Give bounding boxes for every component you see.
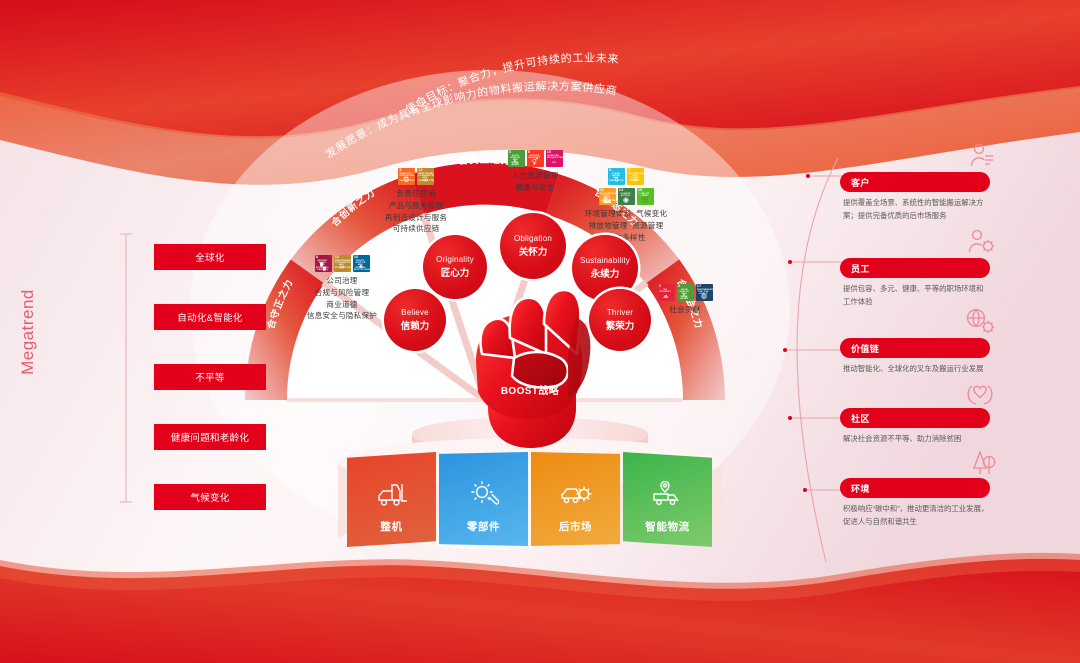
stakeholder-customer[interactable]: 客户 提供覆盖全场景、系统性的智能搬运解决方案；提供完备优质的后市场服务 <box>840 172 990 222</box>
pillar-innovation[interactable]: 9INDUSTRY, INNOVATION AND INFRASTRUCTURE… <box>360 168 472 235</box>
globe-gear-icon <box>964 306 996 341</box>
business-tab-label: 后市场 <box>559 519 592 534</box>
pillar-ecology[interactable]: 6CLEAN WATER AND SANITATION⚱ 7AFFORDABLE… <box>568 168 684 243</box>
stakeholder-desc: 提供包容、多元、健康、平等的职场环境和工作体验 <box>840 283 990 308</box>
sdg-icon-11: 11SUSTAINABLE CITIES AND COMMUNITIES🏙 <box>599 188 616 205</box>
sdg-icon-12: 12RESPONSIBLE CONSUMPTION AND PRODUCTION… <box>334 255 351 272</box>
smart-logistics-truck-icon <box>651 481 685 512</box>
pillar-topics-ecology: 环境管理体系 气候变化 排放物管理 资源管理 生物多样性 <box>568 208 684 243</box>
sdg-icon-3: 3GOOD HEALTH AND WELL-BEING∿ <box>677 284 694 301</box>
stakeholder-desc: 积极响应“碳中和”，推动更清洁的工业发展，促进人与自然和谐共生 <box>840 503 990 528</box>
sdg-icon-10: 10REDUCED INEQUALITIES⇔ <box>546 150 563 167</box>
bubble-en-label: Obligation <box>514 234 552 243</box>
sdg-icon-13: 13CLIMATE ACTION◉ <box>618 188 635 205</box>
stakeholder-community[interactable]: 社区 解决社会资源不平等、助力消除贫困 <box>840 408 990 446</box>
sdg-row-ecology-top: 6CLEAN WATER AND SANITATION⚱ 7AFFORDABLE… <box>568 168 684 185</box>
sdg-row-society: 1NO POVERTY⩕ 3GOOD HEALTH AND WELL-BEING… <box>629 284 741 301</box>
sdg-icon-7: 7AFFORDABLE AND CLEAN ENERGY☀ <box>627 168 644 185</box>
megatrend-axis-label: Megatrend <box>18 289 38 375</box>
sdg-icon-17: 17PARTNERSHIPS FOR THE GOALS◍ <box>696 284 713 301</box>
megatrend-item-climate[interactable]: 气候变化 <box>154 484 266 510</box>
sdg-icon-16: 16PEACE, JUSTICE AND STRONG INSTITUTIONS… <box>353 255 370 272</box>
sdg-icon-9: 9INDUSTRY, INNOVATION AND INFRASTRUCTURE… <box>398 168 415 185</box>
megatrend-item-automation[interactable]: 自动化&智能化 <box>154 304 266 330</box>
sdg-icon-15: 15LIFE ON LAND🌿 <box>637 188 654 205</box>
sdg-row-innovation: 9INDUSTRY, INNOVATION AND INFRASTRUCTURE… <box>360 168 472 185</box>
forklift-icon <box>375 481 409 512</box>
business-tab-smart-logistics[interactable]: 智能物流 <box>623 452 712 547</box>
bubble-en-label: Believe <box>401 308 429 317</box>
fist-illustration <box>430 258 630 458</box>
business-tab-aftermarket[interactable]: 后市场 <box>531 452 620 547</box>
stakeholder-value-chain[interactable]: 价值链 推动智能化、全球化的叉车及搬运行业发展 <box>840 338 990 376</box>
stakeholder-title[interactable]: 价值链 <box>840 338 990 358</box>
sdg-row-ecology-bottom: 11SUSTAINABLE CITIES AND COMMUNITIES🏙 13… <box>568 188 684 205</box>
sdg-row-employee: 3GOOD HEALTH AND WELL-BEING∿ 5GENDER EQU… <box>479 150 591 167</box>
pillar-compliance[interactable]: 8DECENT WORK AND ECONOMIC GROWTH▚ 12RESP… <box>283 255 401 322</box>
megatrend-item-health-aging[interactable]: 健康问题和老龄化 <box>154 424 266 450</box>
megatrend-item-globalization[interactable]: 全球化 <box>154 244 266 270</box>
stakeholder-desc: 推动智能化、全球化的叉车及搬运行业发展 <box>840 363 990 376</box>
car-service-icon <box>559 481 593 512</box>
stakeholder-desc: 提供覆盖全场景、系统性的智能搬运解决方案；提供完备优质的后市场服务 <box>840 197 990 222</box>
business-tab-label: 智能物流 <box>645 519 689 534</box>
stakeholder-environment[interactable]: 环境 积极响应“碳中和”，推动更清洁的工业发展，促进人与自然和谐共生 <box>840 478 990 528</box>
sdg-icon-6: 6CLEAN WATER AND SANITATION⚱ <box>608 168 625 185</box>
business-tab-label: 整机 <box>380 519 402 534</box>
sdg-icon-8: 8DECENT WORK AND ECONOMIC GROWTH▚ <box>315 255 332 272</box>
bubble-cn-label: 信赖力 <box>401 318 430 332</box>
stakeholder-desc: 解决社会资源不平等、助力消除贫困 <box>840 433 990 446</box>
stakeholder-title[interactable]: 环境 <box>840 478 990 498</box>
stakeholder-title[interactable]: 客户 <box>840 172 990 192</box>
sdg-icon-1: 1NO POVERTY⩕ <box>658 284 675 301</box>
sdg-row-compliance: 8DECENT WORK AND ECONOMIC GROWTH▚ 12RESP… <box>283 255 401 272</box>
infographic-canvas: 使命目标：聚合力，提升可持续的工业未来 发展愿景：成为具有全球影响力的物料搬运解… <box>0 0 1080 663</box>
customer-person-icon <box>968 142 996 175</box>
bubble-cn-label: 关怀力 <box>519 244 548 258</box>
sdg-icon-5: 5GENDER EQUALITY⚥ <box>527 150 544 167</box>
gear-wrench-icon <box>469 479 499 512</box>
business-segment-tabs: 整机 零部件 后市场 <box>347 452 712 547</box>
business-tab-machines[interactable]: 整机 <box>347 452 436 547</box>
sdg-icon-12: 12RESPONSIBLE CONSUMPTION AND PRODUCTION… <box>417 168 434 185</box>
business-tab-label: 零部件 <box>467 519 500 534</box>
pillar-topics-innovation: 负责任营销 产品与服务管理 再制造设计与服务 可持续供应链 <box>360 188 472 235</box>
heart-hands-icon <box>964 376 996 411</box>
sdg-icon-3: 3GOOD HEALTH AND WELL-BEING∿ <box>508 150 525 167</box>
stakeholder-title[interactable]: 社区 <box>840 408 990 428</box>
employee-person-gear-icon <box>966 228 996 261</box>
megatrend-item-inequality[interactable]: 不平等 <box>154 364 266 390</box>
business-tab-parts[interactable]: 零部件 <box>439 452 528 547</box>
megatrend-axis <box>96 228 136 508</box>
stakeholder-title[interactable]: 员工 <box>840 258 990 278</box>
tree-icon <box>964 446 996 481</box>
stakeholder-employee[interactable]: 员工 提供包容、多元、健康、平等的职场环境和工作体验 <box>840 258 990 308</box>
stakeholder-panel: 客户 提供覆盖全场景、系统性的智能搬运解决方案；提供完备优质的后市场服务 员工 … <box>808 160 1068 560</box>
center-strategy-label: BOOST战略 <box>430 382 630 397</box>
